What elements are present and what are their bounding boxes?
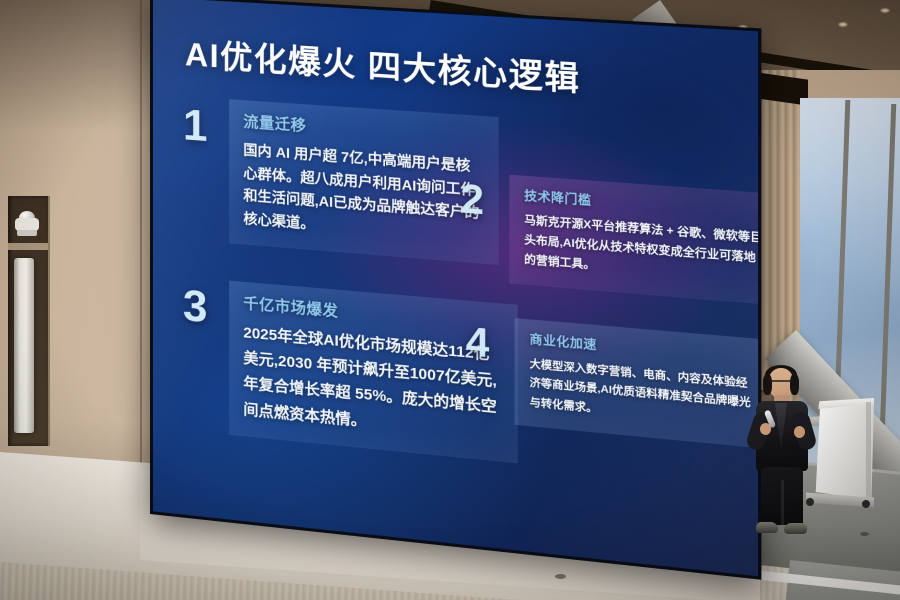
speaker-shoe-right — [784, 523, 807, 534]
speaker-shoe-left — [756, 522, 778, 533]
card-panel: 千亿市场爆发 2025年全球AI优化市场规模达112亿美元,2030 年预计飙升… — [229, 281, 518, 464]
card-number: 4 — [466, 322, 515, 366]
glasses-icon — [769, 380, 793, 387]
podium-edge — [866, 402, 871, 498]
podium-caster-2 — [862, 500, 870, 508]
floor-marker-3 — [860, 532, 869, 536]
presentation-screen[interactable]: AI优化爆火 四大核心逻辑 1 流量迁移 国内 AI 用户超 7亿,中高端用户是… — [150, 0, 761, 580]
speaker-hand-right — [794, 426, 805, 438]
card-panel: 技术降门槛 马斯克开源X平台推荐算法 + 谷歌、微软等巨头布局,AI优化从技术特… — [509, 175, 758, 305]
card-body: 国内 AI 用户超 7亿,中高端用户是核心群体。超八成用户利用AI询问工作和生活… — [243, 139, 483, 249]
ptz-camera-icon — [15, 208, 39, 238]
card-body: 大模型深入数字营销、电商、内容及体验经济等商业场景,AI优质语料精准契合品牌曝光… — [530, 355, 754, 433]
camera-base — [17, 230, 37, 236]
speaker-person — [748, 368, 818, 533]
speaker-leg-split — [781, 480, 784, 525]
podium — [812, 400, 874, 500]
card-number: 3 — [183, 285, 229, 331]
presentation-scene: AI优化爆火 四大核心逻辑 1 流量迁移 国内 AI 用户超 7亿,中高端用户是… — [0, 0, 900, 600]
card-number: 2 — [460, 179, 509, 222]
card-number: 1 — [183, 104, 229, 149]
downlight-1 — [880, 8, 890, 13]
downlight-4 — [838, 22, 848, 27]
card-body: 2025年全球AI优化市场规模达112亿美元,2030 年预计飙升至1007亿美… — [243, 320, 503, 447]
card-panel: 商业化加速 大模型深入数字营销、电商、内容及体验经济等商业场景,AI优质语料精准… — [515, 318, 758, 449]
slide-title: AI优化爆火 四大核心逻辑 — [185, 29, 711, 109]
card-body: 马斯克开源X平台推荐算法 + 谷歌、微软等巨头布局,AI优化从技术特权变成全行业… — [524, 211, 758, 289]
niche-shelf — [8, 243, 48, 250]
screen-surface: AI优化爆火 四大核心逻辑 1 流量迁移 国内 AI 用户超 7亿,中高端用户是… — [153, 0, 758, 576]
floor-marker-1 — [555, 574, 566, 579]
card-panel: 流量迁移 国内 AI 用户超 7亿,中高端用户是核心群体。超八成用户利用AI询问… — [229, 99, 498, 264]
wall-speaker-icon — [14, 258, 34, 433]
